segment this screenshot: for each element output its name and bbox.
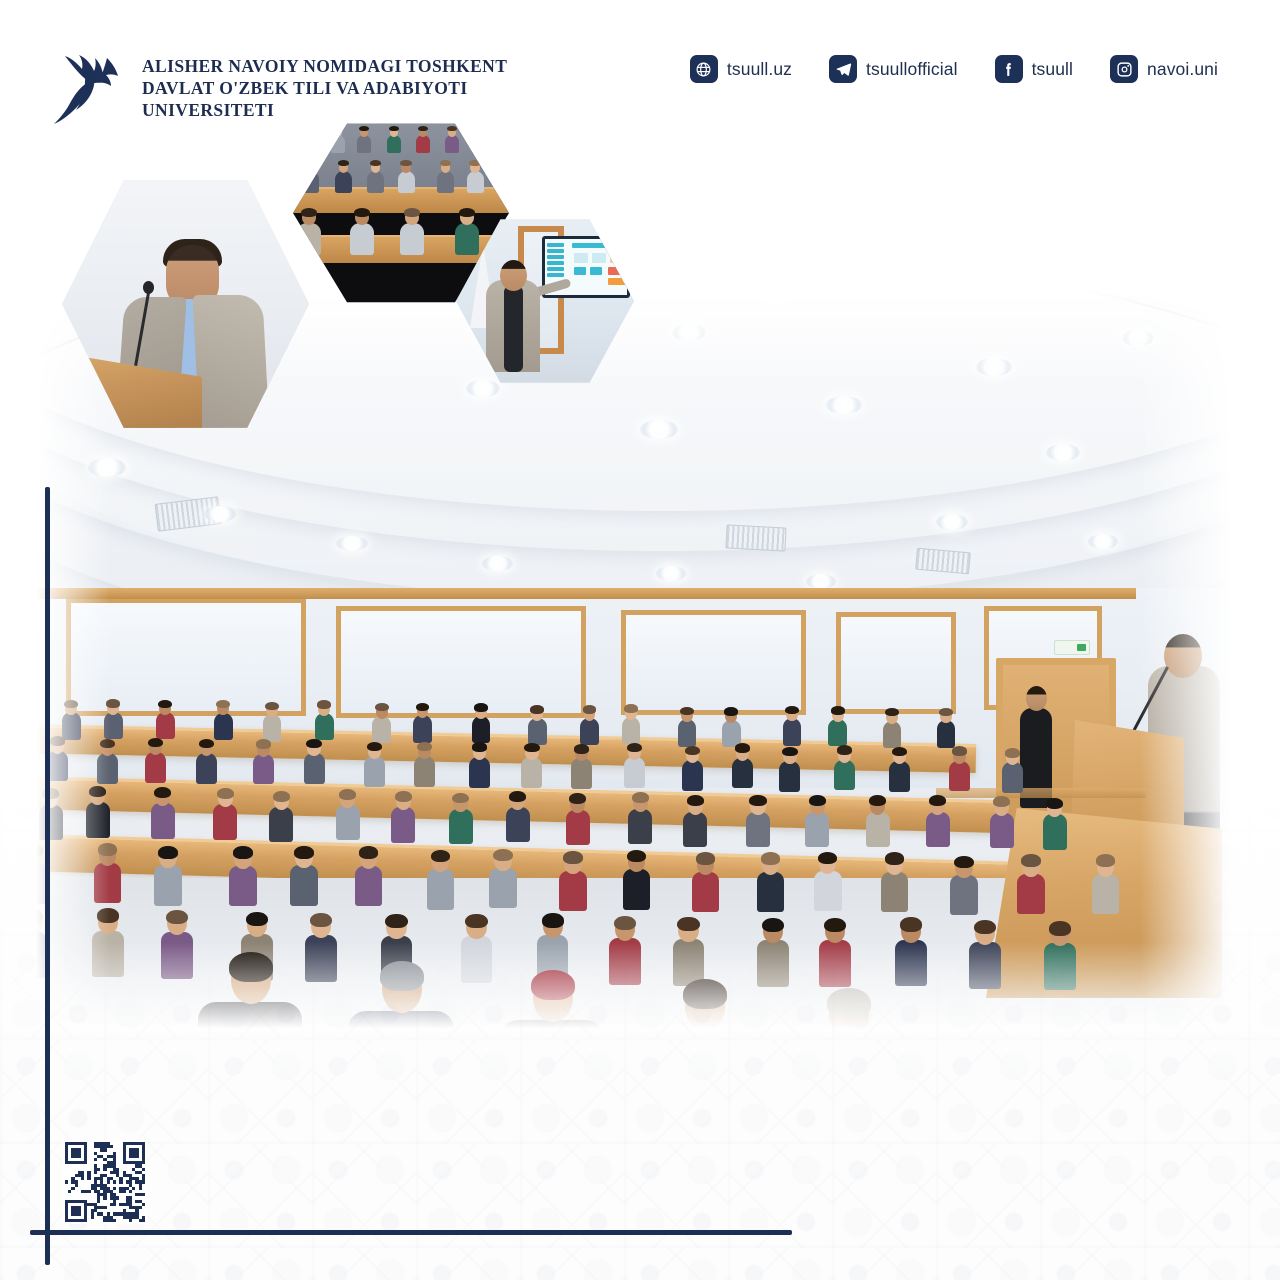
- audience-member-hair: [687, 795, 704, 806]
- audience-member-hair: [627, 850, 646, 863]
- audience-member: [889, 761, 910, 792]
- audience-member: [814, 871, 842, 911]
- audience-member-hair: [339, 789, 356, 800]
- audience-member: [355, 866, 383, 906]
- ceiling-vent: [915, 548, 971, 575]
- audience-member-hair: [199, 739, 214, 749]
- audience-member-hair: [563, 851, 582, 864]
- front-row-guest-hair: [229, 952, 273, 982]
- ceiling-light: [806, 574, 836, 589]
- audience-member-hair: [367, 742, 382, 752]
- audience-member-hair: [627, 743, 642, 753]
- front-row-guest-hair: [380, 961, 424, 991]
- audience-member: [391, 807, 415, 842]
- audience-member-hair: [375, 703, 389, 711]
- audience-member: [895, 940, 927, 987]
- audience-member-hair: [761, 852, 780, 865]
- hex-audience-member: [455, 223, 479, 255]
- audience-member-hair: [885, 708, 899, 716]
- social-label-website: tsuull.uz: [727, 59, 792, 80]
- audience-member: [609, 938, 641, 985]
- audience-member: [315, 713, 334, 740]
- audience-member: [414, 756, 435, 787]
- phoenix-bird-logo-icon: [52, 38, 128, 124]
- audience-member-hair: [1049, 921, 1071, 935]
- social-link-telegram[interactable]: tsuullofficial: [829, 55, 958, 83]
- audience-member-hair: [166, 910, 188, 924]
- audience-member-hair: [624, 704, 638, 712]
- presenter-head: [500, 260, 527, 291]
- audience-member-hair: [939, 708, 953, 716]
- audience-member: [757, 872, 785, 912]
- hex-audience-member: [367, 171, 384, 193]
- audience-member: [732, 758, 753, 789]
- audience-member: [461, 936, 493, 983]
- audience-member: [757, 940, 789, 987]
- audience-member-hair: [310, 913, 332, 927]
- audience-member: [746, 812, 770, 847]
- audience-member: [622, 717, 641, 744]
- ceiling-light: [976, 358, 1012, 376]
- audience-member-hair: [465, 914, 487, 928]
- poster-canvas: ALISHER NAVOIY NOMIDAGI TOSHKENT DAVLAT …: [0, 0, 1280, 1280]
- audience-member-hair: [1096, 854, 1115, 867]
- front-row-guest-hair: [827, 988, 871, 1018]
- audience-member-hair: [158, 700, 172, 708]
- audience-member-hair: [749, 795, 766, 806]
- hex-audience-member: [467, 171, 484, 193]
- audience-member-hair: [614, 916, 636, 930]
- audience-member: [472, 716, 491, 743]
- audience-member: [372, 716, 391, 743]
- audience-member: [47, 751, 68, 782]
- audience-member-hair: [900, 917, 922, 931]
- audience-member: [1043, 814, 1067, 849]
- audience-member: [566, 810, 590, 845]
- brand-block: ALISHER NAVOIY NOMIDAGI TOSHKENT DAVLAT …: [52, 38, 507, 124]
- audience-member: [521, 757, 542, 788]
- audience-member: [692, 872, 720, 912]
- audience-member-hair: [809, 795, 826, 806]
- ceiling-light: [826, 396, 862, 414]
- social-links: tsuull.uz tsuullofficial tsuull: [690, 55, 1218, 83]
- audience-member: [145, 752, 166, 783]
- hex-audience-member-hair: [404, 208, 420, 217]
- audience-member-hair: [416, 703, 430, 711]
- exit-sign: [1054, 640, 1090, 655]
- audience-member-hair: [158, 846, 177, 859]
- audience-member-hair: [869, 795, 886, 806]
- audience-member-hair: [1046, 798, 1063, 809]
- audience-member: [949, 761, 970, 792]
- ceiling-light: [466, 380, 500, 397]
- audience-member-hair: [385, 914, 407, 928]
- audience-member-hair: [89, 786, 106, 797]
- hex-audience-member-hair: [354, 208, 370, 217]
- audience-member: [506, 807, 530, 842]
- audience-member: [881, 872, 909, 912]
- audience-member: [1017, 874, 1045, 914]
- audience-member: [580, 718, 599, 745]
- horizontal-accent-rule: [30, 1230, 792, 1235]
- globe-icon: [690, 55, 718, 83]
- audience-member: [269, 807, 293, 842]
- hex-audience-member-hair: [418, 126, 428, 131]
- audience-member-hair: [831, 706, 845, 714]
- audience-member-hair: [885, 852, 904, 865]
- hex-audience-member-hair: [400, 160, 412, 166]
- hex-audience-member: [357, 135, 371, 153]
- ceiling-light: [88, 458, 126, 477]
- speaker-head: [1164, 634, 1202, 678]
- hex-audience-member-hair: [389, 126, 399, 131]
- audience-member-hair: [929, 795, 946, 806]
- social-label-facebook: tsuull: [1032, 59, 1073, 80]
- audience-member-hair: [417, 742, 432, 752]
- ceiling-light: [656, 566, 686, 581]
- social-label-telegram: tsuullofficial: [866, 59, 958, 80]
- audience-member-hair: [217, 788, 234, 799]
- vertical-accent-rule: [45, 487, 50, 1265]
- audience-member: [990, 813, 1014, 848]
- audience-member-hair: [64, 700, 78, 708]
- hex-audience-member: [445, 135, 459, 153]
- audience-member-hair: [632, 792, 649, 803]
- audience-member: [926, 812, 950, 847]
- university-name: ALISHER NAVOIY NOMIDAGI TOSHKENT DAVLAT …: [142, 55, 507, 121]
- front-row-guest: [198, 1002, 302, 1028]
- audience-member: [39, 805, 63, 840]
- audience-member-hair: [472, 742, 487, 752]
- hex-audience-member: [335, 171, 352, 193]
- audience-member-hair: [154, 787, 171, 798]
- audience-member-hair: [306, 739, 321, 749]
- social-link-instagram[interactable]: navoi.uni: [1110, 55, 1218, 83]
- audience-member: [214, 713, 233, 740]
- header: ALISHER NAVOIY NOMIDAGI TOSHKENT DAVLAT …: [0, 0, 1280, 135]
- audience-member-hair: [837, 745, 852, 755]
- audience-member-hair: [569, 793, 586, 804]
- audience-member-hair: [680, 707, 694, 715]
- audience-member-hair: [974, 920, 996, 934]
- audience-member-hair: [294, 846, 313, 859]
- audience-member: [623, 869, 651, 909]
- qr-code[interactable]: [63, 1140, 147, 1224]
- ceiling-light: [482, 556, 513, 571]
- ceiling-light: [204, 506, 236, 522]
- audience-member: [683, 812, 707, 847]
- hex-audience-member-hair: [447, 126, 457, 131]
- audience-member-hair: [574, 744, 589, 754]
- audience-member: [62, 712, 81, 739]
- audience-member: [950, 875, 978, 915]
- audience-member-hair: [696, 852, 715, 865]
- front-row-guest-hair: [683, 979, 727, 1009]
- audience-member: [883, 721, 902, 748]
- audience-member: [559, 871, 587, 911]
- hex-audience-member: [398, 171, 415, 193]
- audience-member: [489, 868, 517, 908]
- social-link-facebook[interactable]: tsuull: [995, 55, 1073, 83]
- audience-member: [779, 761, 800, 792]
- audience-member-hair: [1021, 854, 1040, 867]
- audience-member: [469, 757, 490, 788]
- audience-member: [937, 720, 956, 747]
- front-row-guest: [348, 1011, 454, 1028]
- audience-member: [336, 805, 360, 840]
- audience-member: [156, 712, 175, 739]
- audience-member-hair: [724, 707, 738, 715]
- audience-member-hair: [431, 850, 450, 863]
- audience-member-hair: [818, 852, 837, 865]
- ceiling-light: [672, 324, 706, 341]
- audience-member-hair: [735, 743, 750, 753]
- audience-member-hair: [685, 746, 700, 756]
- audience-member: [151, 803, 175, 838]
- audience-member-hair: [542, 913, 564, 927]
- audience-member: [94, 863, 122, 903]
- ceiling-light: [640, 420, 678, 439]
- audience-member: [154, 865, 182, 905]
- audience-member: [263, 714, 282, 741]
- hex-audience-member-hair: [359, 126, 369, 131]
- audience-member: [1092, 874, 1120, 914]
- audience-member-hair: [233, 846, 252, 859]
- audience-member-hair: [474, 703, 488, 711]
- audience-member: [969, 942, 1001, 989]
- audience-member: [834, 760, 855, 791]
- hex-audience-member: [416, 135, 430, 153]
- audience-member: [449, 809, 473, 844]
- social-link-website[interactable]: tsuull.uz: [690, 55, 792, 83]
- audience-member: [628, 809, 652, 844]
- audience-member: [866, 812, 890, 847]
- audience-member-hair: [265, 702, 279, 710]
- ceiling-light: [1088, 534, 1118, 549]
- audience-member: [828, 719, 847, 746]
- audience-member: [92, 931, 124, 978]
- audience-member: [305, 935, 337, 982]
- audience-member-hair: [952, 746, 967, 756]
- audience-member: [196, 753, 217, 784]
- audience-member: [290, 865, 318, 905]
- audience-member: [86, 802, 110, 837]
- microphone-head: [143, 281, 154, 294]
- ceiling-vent: [725, 524, 786, 551]
- audience-member-hair: [493, 849, 512, 862]
- hex-audience-member: [400, 223, 424, 255]
- audience-member: [819, 940, 851, 987]
- audience-member: [528, 718, 547, 745]
- audience-member: [783, 718, 802, 745]
- social-label-instagram: navoi.uni: [1147, 59, 1218, 80]
- audience-member-hair: [892, 747, 907, 757]
- audience-member-hair: [1005, 748, 1020, 758]
- hex-audience-member-hair: [459, 208, 475, 217]
- hex-audience-member: [437, 171, 454, 193]
- audience-member: [104, 712, 123, 739]
- audience-member: [571, 758, 592, 789]
- audience-member: [229, 866, 257, 906]
- hex-audience-member: [387, 135, 401, 153]
- audience-member-hair: [246, 912, 268, 926]
- hex-audience-member: [350, 223, 374, 255]
- facebook-icon: [995, 55, 1023, 83]
- audience-member: [624, 757, 645, 788]
- audience-member-hair: [509, 791, 526, 802]
- audience-member: [413, 715, 432, 742]
- audience-member-hair: [954, 856, 973, 869]
- audience-member: [427, 869, 455, 909]
- audience-member: [1002, 762, 1023, 793]
- audience-member-hair: [824, 918, 846, 932]
- audience-member-hair: [530, 705, 544, 713]
- audience-member: [253, 754, 274, 785]
- audience-member-hair: [583, 705, 597, 713]
- hex-audience-member-hair: [440, 160, 452, 166]
- wall-panel: [66, 598, 306, 716]
- audience-member-hair: [216, 700, 230, 708]
- wall-panel: [836, 612, 956, 714]
- front-row-guest-hair: [531, 970, 575, 1000]
- audience-member: [213, 804, 237, 839]
- hex-audience-member-hair: [370, 160, 382, 166]
- audience-member: [97, 753, 118, 784]
- audience-member-hair: [106, 699, 120, 707]
- wall-panel: [336, 606, 586, 718]
- instagram-icon: [1110, 55, 1138, 83]
- standing-attendant-head: [1026, 686, 1047, 711]
- audience-member-hair: [98, 843, 117, 856]
- audience-member-hair: [677, 917, 699, 931]
- audience-member-hair: [524, 743, 539, 753]
- audience-member-hair: [395, 791, 412, 802]
- telegram-icon: [829, 55, 857, 83]
- audience-member-hair: [273, 791, 290, 802]
- audience-member: [364, 756, 385, 787]
- audience-member-hair: [359, 846, 378, 859]
- audience-member-hair: [762, 918, 784, 932]
- audience-member-hair: [256, 739, 271, 749]
- wall-trim: [36, 588, 1136, 599]
- audience-member-hair: [317, 700, 331, 708]
- audience-member: [682, 760, 703, 791]
- audience-member-hair: [782, 747, 797, 757]
- wall-panel: [621, 610, 806, 715]
- audience-member: [678, 719, 697, 746]
- ceiling-light: [336, 536, 368, 551]
- audience-member: [161, 932, 193, 979]
- hex-audience-member-hair: [301, 208, 317, 217]
- audience-member-hair: [97, 908, 119, 922]
- ceiling-light: [936, 514, 968, 530]
- audience-member: [805, 812, 829, 847]
- audience-member-hair: [993, 796, 1010, 807]
- audience-member-hair: [50, 736, 65, 746]
- audience-member-hair: [785, 706, 799, 714]
- audience-member: [1044, 943, 1076, 990]
- presenter-shirt: [504, 286, 523, 372]
- ceiling-light: [1046, 444, 1080, 461]
- ceiling-light: [1122, 330, 1154, 346]
- audience-member-hair: [148, 738, 163, 748]
- audience-member: [304, 753, 325, 784]
